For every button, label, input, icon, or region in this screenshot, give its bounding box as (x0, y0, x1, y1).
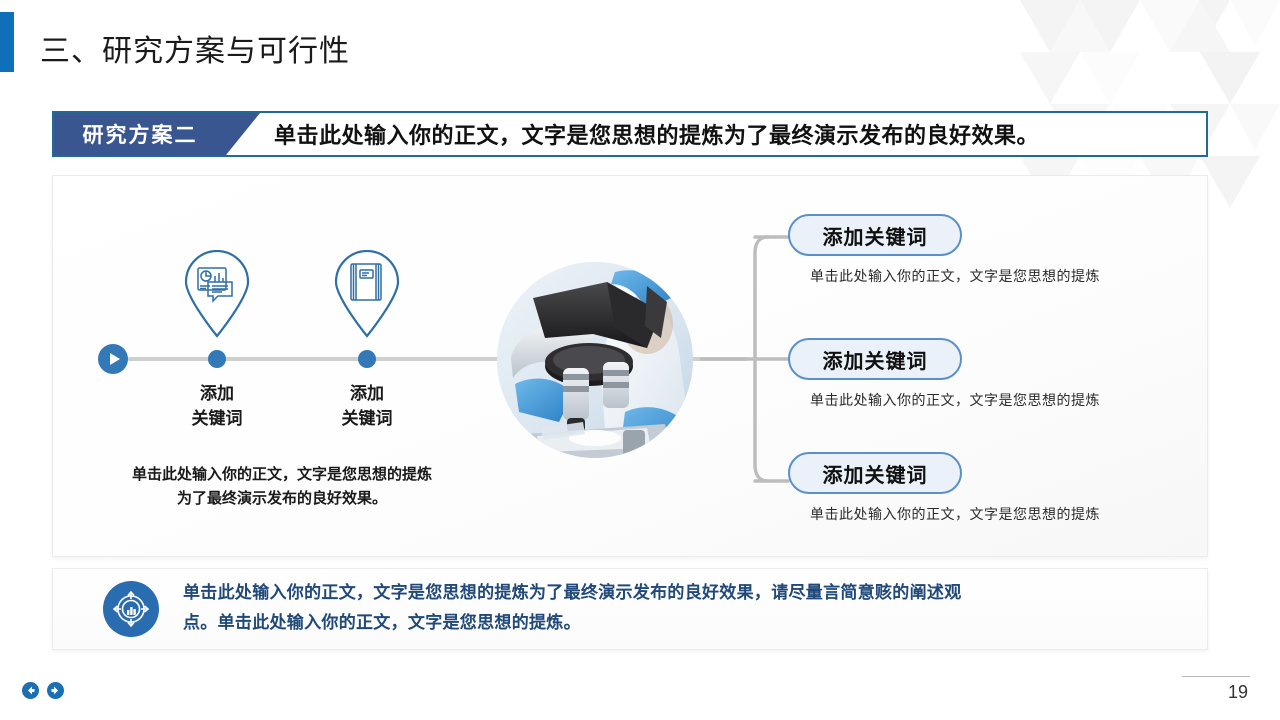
chart-report-icon[interactable] (182, 250, 252, 338)
slide-canvas: 三、研究方案与可行性 研究方案二 单击此处输入你的正文，文字是您思想的提炼为了最… (0, 0, 1280, 720)
bottom-note-text: 单击此处输入你的正文，文字是您思想的提炼为了最终演示发布的良好效果，请尽量言简意… (183, 579, 962, 639)
timeline-label-2: 添加 关键词 (297, 382, 437, 431)
timeline-label-1-line2: 关键词 (147, 407, 287, 432)
microscope-photo (497, 262, 693, 458)
keyword-desc-3: 单击此处输入你的正文，文字是您思想的提炼 (810, 504, 1188, 524)
keyword-item-1: 添加关键词 单击此处输入你的正文，文字是您思想的提炼 (788, 214, 1188, 286)
timeline-label-2-line1: 添加 (297, 382, 437, 407)
timeline-node-2[interactable] (358, 350, 376, 368)
title-accent-bar (0, 12, 14, 72)
timeline-caption-line1: 单击此处输入你的正文，文字是您思想的提炼 (72, 462, 492, 486)
keyword-item-2: 添加关键词 单击此处输入你的正文，文字是您思想的提炼 (788, 338, 1188, 410)
bottom-note-line1: 单击此处输入你的正文，文字是您思想的提炼为了最终演示发布的良好效果，请尽量言简意… (183, 579, 962, 609)
target-chart-icon (103, 581, 159, 637)
banner-body-text: 单击此处输入你的正文，文字是您思想的提炼为了最终演示发布的良好效果。 (226, 113, 1206, 155)
timeline-caption: 单击此处输入你的正文，文字是您思想的提炼 为了最终演示发布的良好效果。 (72, 462, 492, 510)
timeline-label-1-line1: 添加 (147, 382, 287, 407)
arrow-left-circle-icon[interactable] (22, 682, 39, 699)
arrow-right-circle-icon[interactable] (47, 682, 64, 699)
timeline-caption-line2: 为了最终演示发布的良好效果。 (72, 486, 492, 510)
banner-tab-label: 研究方案二 (83, 119, 198, 149)
timeline-node-1[interactable] (208, 350, 226, 368)
keyword-item-3: 添加关键词 单击此处输入你的正文，文字是您思想的提炼 (788, 452, 1188, 524)
timeline-label-2-line2: 关键词 (297, 407, 437, 432)
page-number: 19 (1228, 682, 1248, 703)
keyword-pill-1[interactable]: 添加关键词 (788, 214, 962, 256)
bottom-note-card: 单击此处输入你的正文，文字是您思想的提炼为了最终演示发布的良好效果，请尽量言简意… (52, 568, 1208, 650)
slide-nav-buttons (22, 682, 64, 699)
keyword-desc-1: 单击此处输入你的正文，文字是您思想的提炼 (810, 266, 1188, 286)
footer-divider (1182, 676, 1250, 677)
timeline-label-1: 添加 关键词 (147, 382, 287, 431)
keyword-pill-2-label: 添加关键词 (823, 345, 928, 374)
play-icon[interactable] (98, 344, 128, 374)
keyword-pill-3-label: 添加关键词 (823, 459, 928, 488)
banner-tab: 研究方案二 (54, 113, 226, 155)
section-banner: 研究方案二 单击此处输入你的正文，文字是您思想的提炼为了最终演示发布的良好效果。 (52, 111, 1208, 157)
keyword-pill-1-label: 添加关键词 (823, 221, 928, 250)
keyword-pill-2[interactable]: 添加关键词 (788, 338, 962, 380)
notebook-icon[interactable] (332, 250, 402, 338)
keyword-desc-2: 单击此处输入你的正文，文字是您思想的提炼 (810, 390, 1188, 410)
page-title: 三、研究方案与可行性 (40, 26, 350, 70)
bottom-note-line2: 点。单击此处输入你的正文，文字是您思想的提炼。 (183, 609, 962, 639)
keyword-pill-3[interactable]: 添加关键词 (788, 452, 962, 494)
play-triangle (110, 353, 120, 365)
